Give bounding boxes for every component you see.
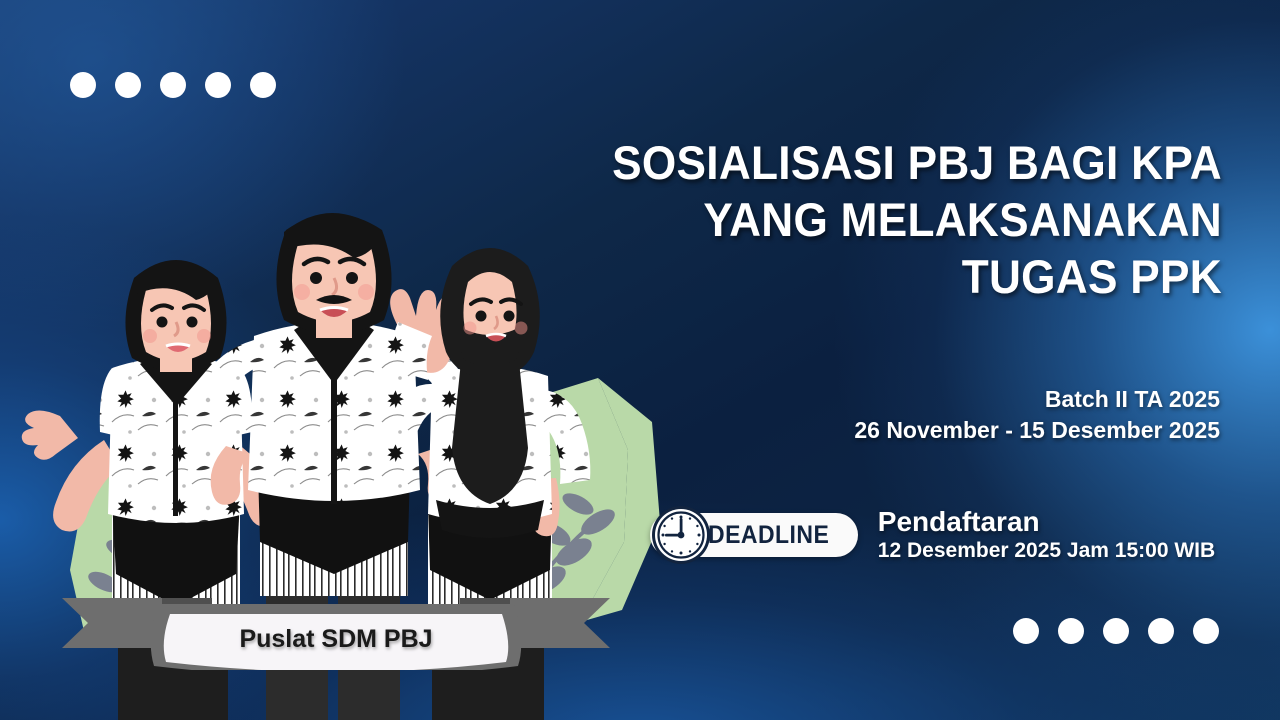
deadline-label: DEADLINE	[708, 521, 829, 550]
schedule-info: Batch II TA 2025 26 November - 15 Desemb…	[600, 384, 1220, 446]
decorative-dot	[1103, 618, 1129, 644]
decorative-dot	[1058, 618, 1084, 644]
registration-title: Pendaftaran	[878, 506, 1215, 538]
decorative-dot	[1193, 618, 1219, 644]
deadline-text: Pendaftaran 12 Desember 2025 Jam 15:00 W…	[878, 506, 1215, 564]
decorative-dot	[160, 72, 186, 98]
decorative-dot	[250, 72, 276, 98]
dot-row-bottom-right	[1013, 618, 1219, 644]
deadline-badge: DEADLINE	[650, 504, 858, 566]
headline-line-3: TUGAS PPK	[564, 248, 1222, 305]
registration-datetime: 12 Desember 2025 Jam 15:00 WIB	[878, 538, 1215, 564]
dot-row-top-left	[70, 72, 276, 98]
decorative-dot	[205, 72, 231, 98]
batch-label: Batch II TA 2025	[600, 384, 1220, 415]
deadline-block: DEADLINE Pendaftaran	[650, 504, 1215, 566]
decorative-dot	[1013, 618, 1039, 644]
decorative-dot	[1148, 618, 1174, 644]
headline-line-1: SOSIALISASI PBJ BAGI KPA	[564, 134, 1222, 191]
headline-line-2: YANG MELAKSANAKAN	[564, 191, 1222, 248]
decorative-dot	[70, 72, 96, 98]
ribbon-banner: Puslat SDM PBJ	[62, 596, 610, 670]
poster-canvas: SOSIALISASI PBJ BAGI KPA YANG MELAKSANAK…	[0, 0, 1280, 720]
clock-icon	[650, 504, 712, 566]
page-title: SOSIALISASI PBJ BAGI KPA YANG MELAKSANAK…	[564, 134, 1222, 305]
decorative-dot	[115, 72, 141, 98]
period-label: 26 November - 15 Desember 2025	[600, 415, 1220, 446]
